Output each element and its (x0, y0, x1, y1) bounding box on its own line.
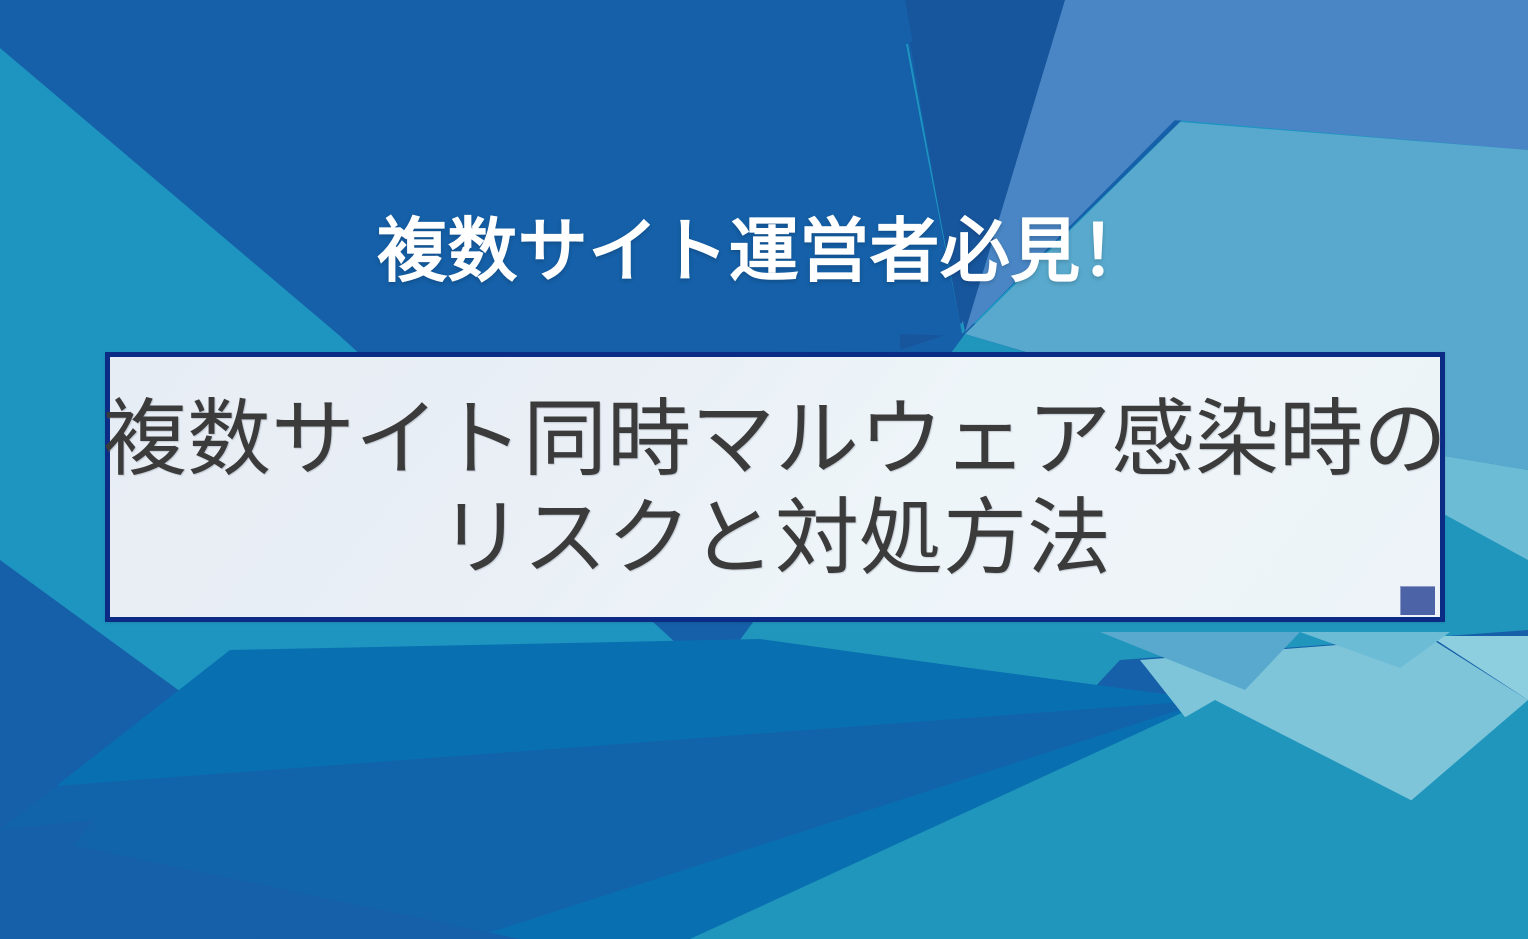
eyecatch-banner: 複数サイト運営者必見！ 複数サイト同時マルウェア感染時の リスクと対処方法 (0, 0, 1528, 939)
accent-square (1400, 586, 1435, 615)
title-box-content: 複数サイト同時マルウェア感染時の リスクと対処方法 (110, 357, 1440, 617)
title-box: 複数サイト同時マルウェア感染時の リスクと対処方法 (105, 352, 1445, 622)
title-line-1: 複数サイト同時マルウェア感染時の (103, 390, 1447, 489)
headline-text: 複数サイト運営者必見！ (0, 213, 1528, 290)
title-line-2: リスクと対処方法 (439, 489, 1111, 588)
